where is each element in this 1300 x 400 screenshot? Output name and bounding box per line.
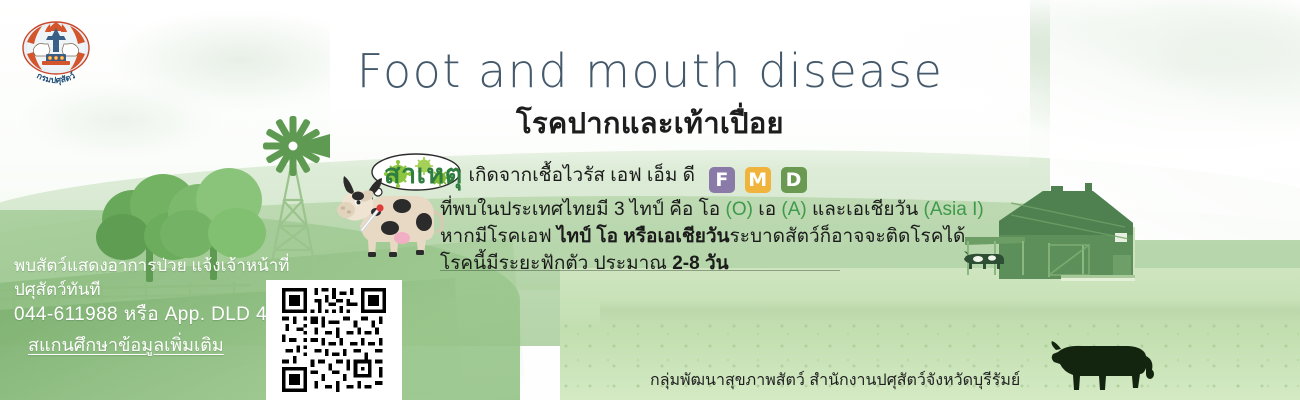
type-asia-code: (Asia I): [924, 199, 984, 220]
line-outbreak: หากมีโรคเอฟ ไทป์ โอ หรือเอเชียวันระบาดสั…: [384, 223, 1004, 250]
outbreak-part-b: ระบาดสัตว์ก็อาจจะติดโรคได้: [730, 226, 966, 247]
qr-code[interactable]: [266, 280, 402, 400]
type-a-code: (A): [781, 199, 806, 220]
tile-d: D: [781, 167, 807, 193]
cause-label: สาเหตุ: [384, 159, 463, 189]
text-underline-rule: [440, 270, 840, 271]
fmd-tiles: F M D: [709, 164, 811, 196]
cause-description: เกิดจากเชื้อไวรัส เอฟ เอ็ม ดี: [469, 165, 695, 186]
tile-f: F: [709, 167, 735, 193]
infographic-poster: กรมปศุสัตว์ Foot and mouth disease โรคปา…: [0, 0, 1300, 400]
outbreak-part-a: หากมีโรคเอฟ: [440, 226, 557, 247]
cause-text-block: สาเหตุ เกิดจากเชื้อไวรัส เอฟ เอ็ม ดี F M…: [384, 158, 1004, 278]
page-title-en: Foot and mouth disease: [0, 44, 1300, 98]
line-types: ที่พบในประเทศไทยมี 3 ไทป์ คือ โอ (O) เอ …: [384, 196, 1004, 223]
tile-m: M: [745, 167, 771, 193]
scan-more-info-link[interactable]: สแกนศึกษาข้อมูลเพิ่มเติม: [28, 330, 224, 359]
line-incubation: โรคนี้มีระยะฟักตัว ประมาณ 2-8 วัน: [384, 250, 1004, 278]
outbreak-types: ไทป์ โอ หรือเอเชียวัน: [557, 226, 730, 247]
qr-code-image: [274, 288, 394, 392]
types-part-a: ที่พบในประเทศไทยมี 3 ไทป์ คือ โอ: [440, 199, 726, 220]
page-title-th: โรคปากและเท้าเปื่อย: [0, 100, 1300, 146]
cow-silhouette-icon: [1040, 338, 1160, 396]
types-part-c: และเอเชียวัน: [807, 199, 924, 220]
types-part-b: เอ: [753, 199, 781, 220]
line-cause: สาเหตุ เกิดจากเชื้อไวรัส เอฟ เอ็ม ดี F M…: [384, 158, 1004, 196]
type-o-code: (O): [726, 199, 753, 220]
footer-credit: กลุ่มพัฒนาสุขภาพสัตว์ สำนักงานปศุสัตว์จั…: [650, 368, 1020, 393]
